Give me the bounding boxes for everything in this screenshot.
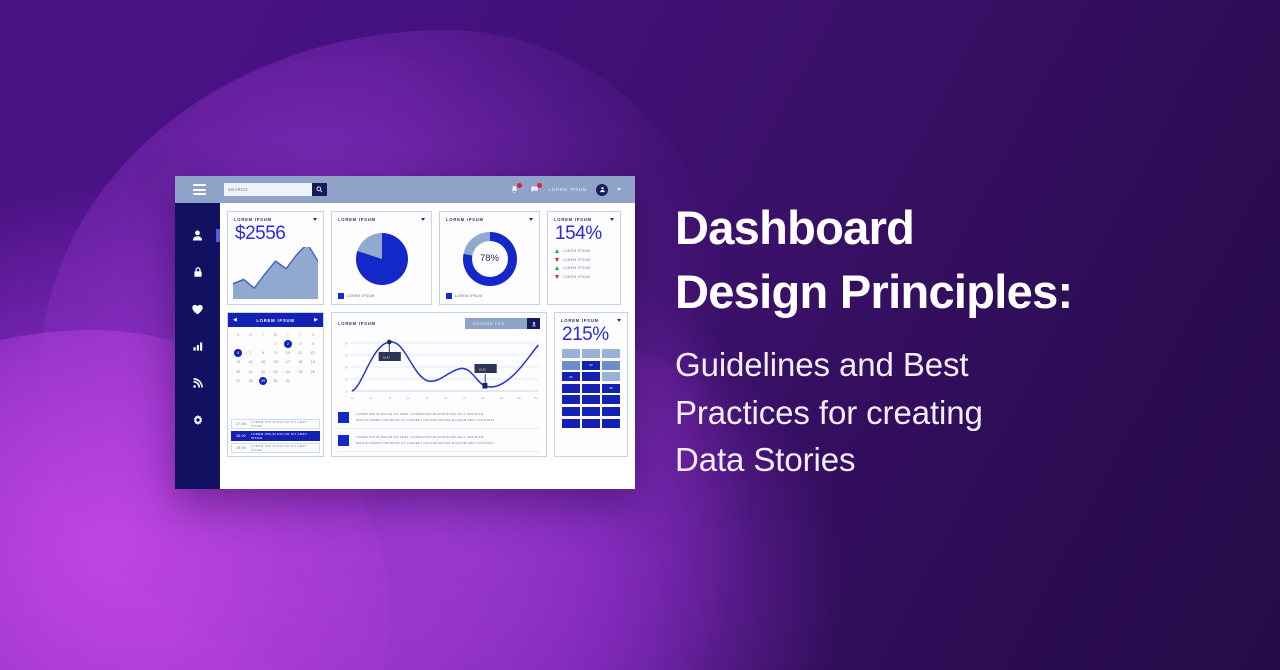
calendar-dow: T: [282, 331, 294, 339]
calendar-day[interactable]: 21: [244, 367, 256, 376]
x-axis-labels: 1020 3040 5060 7080 90100 110: [351, 397, 538, 400]
cards-row-2: ◀ LOREM IPSUM ▶ S M T W T F S: [227, 312, 628, 457]
heatmap-cell[interactable]: [602, 372, 620, 381]
legend-swatch: [338, 412, 349, 423]
pie-slices: [356, 233, 408, 285]
calendar-day[interactable]: 23: [269, 367, 281, 376]
heatmap-cell[interactable]: [602, 407, 620, 416]
calendar-day[interactable]: [244, 339, 256, 348]
user-avatar-icon: [599, 186, 606, 193]
event-text: LOREM IPSUM DOLOR SIT AMET IPSUM: [251, 444, 315, 452]
arrow-down-icon: [555, 258, 559, 262]
page-subtitle: Guidelines and Best Practices for creati…: [675, 341, 1195, 485]
calendar-day[interactable]: 10: [282, 348, 294, 357]
calendar-title: LOREM IPSUM: [237, 318, 314, 323]
legend-swatch: [338, 293, 344, 299]
annotation-trough: 10.22: [475, 364, 497, 389]
card-pie-header: LOREM IPSUM: [332, 212, 431, 222]
donut-chart: 78%: [440, 222, 539, 293]
calendar-day[interactable]: [307, 377, 319, 386]
heatmap-cell[interactable]: [582, 372, 600, 381]
calendar-day[interactable]: 14: [244, 358, 256, 367]
svg-text:100: 100: [517, 397, 521, 400]
card-donut-header: LOREM IPSUM: [440, 212, 539, 222]
kpi-stat-list: LOREM IPSUM LOREM IPSUM LOREM IPSUM: [548, 245, 620, 279]
user-icon: [191, 229, 204, 242]
calendar-day[interactable]: 11: [294, 348, 306, 357]
calendar-day[interactable]: [232, 339, 244, 348]
calendar-week: 20 21 22 23 24 25 26: [232, 367, 319, 376]
heatmap-cell[interactable]: 00: [582, 361, 600, 370]
stat-label: LOREM IPSUM: [563, 275, 590, 279]
card-blocks-value: 215%: [555, 323, 627, 346]
heatmap-cell-label: 00: [589, 363, 592, 367]
svg-text:50: 50: [426, 397, 429, 400]
svg-text:20: 20: [370, 397, 373, 400]
calendar-day[interactable]: 19: [307, 358, 319, 367]
card-calendar: ◀ LOREM IPSUM ▶ S M T W T F S: [227, 312, 324, 457]
heatmap-cell[interactable]: [562, 407, 580, 416]
sidebar: [175, 203, 220, 489]
chat-icon[interactable]: [529, 184, 540, 195]
chevron-right-icon[interactable]: ▶: [314, 318, 318, 323]
bell-badge: [517, 183, 522, 188]
list-item: LOREM IPSUM: [555, 275, 613, 279]
search-group: [224, 183, 327, 196]
svg-text:10: 10: [351, 397, 354, 400]
event-time: 17:00: [236, 422, 246, 426]
svg-text:10.47: 10.47: [383, 355, 390, 359]
svg-text:70: 70: [463, 397, 466, 400]
heatmap-cell[interactable]: [562, 361, 580, 370]
line-series: [352, 342, 538, 391]
lock-icon: [192, 266, 204, 278]
sidebar-active-indicator: [216, 229, 220, 242]
dashboard-window: LOREM IPSUM: [175, 176, 635, 489]
calendar-dow: S: [307, 331, 319, 339]
page-title: Dashboard Design Principles:: [675, 196, 1195, 325]
line-chart-legend: LOREM IPSUM DOLOR SIT AMET, CONSECTETUR …: [332, 405, 546, 452]
calendar-dow: T: [257, 331, 269, 339]
list-item: LOREM IPSUM: [555, 258, 613, 262]
card-kpi-header: LOREM IPSUM: [548, 212, 620, 222]
stat-label: LOREM IPSUM: [563, 249, 590, 253]
card-blocks: LOREM IPSUM 215% 000000: [554, 312, 628, 457]
bar-chart-icon: [192, 340, 204, 352]
calendar-dow-row: S M T W T F S: [232, 331, 319, 339]
event-text: LOREM IPSUM DOLOR SIT AMET IPSUM: [251, 420, 315, 428]
heatmap-cell[interactable]: [562, 384, 580, 393]
calendar-day[interactable]: [257, 339, 269, 348]
calendar-day[interactable]: 18: [294, 358, 306, 367]
area-chart: [228, 245, 323, 304]
heatmap-cell-label: 00: [610, 386, 613, 390]
heart-icon: [191, 303, 204, 316]
cards-row-1: LOREM IPSUM $2556 LOREM IPSUM: [227, 211, 628, 305]
hamburger-icon[interactable]: [193, 184, 206, 195]
heatmap-cell[interactable]: 00: [562, 372, 580, 381]
card-donut: LOREM IPSUM 78% LOREM IPSUM: [439, 211, 540, 305]
svg-text:10: 10: [345, 390, 348, 393]
card-kpi-value: 154%: [548, 222, 620, 245]
caret-down-icon[interactable]: [617, 188, 621, 191]
calendar-grid: S M T W T F S 1 2: [228, 327, 323, 388]
calendar-day[interactable]: 27: [232, 377, 244, 386]
bell-icon[interactable]: [509, 184, 520, 195]
line-chart: 50 40 30 20 10 1020 3040 5060 7080: [332, 329, 546, 405]
calendar-day[interactable]: 17: [282, 358, 294, 367]
svg-text:10.22: 10.22: [479, 367, 486, 371]
calendar-day[interactable]: 22: [257, 367, 269, 376]
choose-file-label: CHOOSE FILE: [465, 318, 527, 329]
caret-down-icon[interactable]: [610, 218, 614, 221]
event-time: 19:00: [236, 446, 246, 450]
card-revenue: LOREM IPSUM $2556: [227, 211, 324, 305]
heatmap-cell[interactable]: [602, 349, 620, 358]
sidebar-item-favorites[interactable]: [190, 301, 206, 317]
heatmap-cell[interactable]: [582, 395, 600, 404]
event-time: 18:00: [236, 434, 246, 438]
subhead-line-2: Practices for creating: [675, 389, 1195, 437]
svg-text:40: 40: [407, 397, 410, 400]
card-line-chart-header: LOREM IPSUM CHOOSE FILE: [332, 313, 546, 329]
heatmap-cell[interactable]: [562, 395, 580, 404]
svg-text:90: 90: [500, 397, 503, 400]
svg-text:50: 50: [345, 342, 348, 345]
promo-copy: Dashboard Design Principles: Guidelines …: [675, 196, 1195, 484]
legend-label: LOREM IPSUM: [455, 294, 482, 298]
calendar-week: 27 28 29 30 31: [232, 377, 319, 386]
calendar-day[interactable]: 13: [232, 358, 244, 367]
headline-line-2: Design Principles:: [675, 260, 1195, 324]
subhead-line-3: Data Stories: [675, 436, 1195, 484]
list-item: LOREM IPSUM DOLOR SIT AMET, CONSECTETUR …: [338, 409, 540, 429]
heatmap-cell-label: 00: [569, 375, 572, 379]
svg-text:110: 110: [534, 397, 538, 400]
y-axis-labels: 50 40 30 20 10: [345, 342, 348, 393]
calendar-day-selected[interactable]: 2: [282, 339, 294, 348]
chat-badge: [537, 183, 542, 188]
calendar-day[interactable]: 15: [257, 358, 269, 367]
card-kpi: LOREM IPSUM 154% LOREM IPSUM LOREM IPSUM: [547, 211, 621, 305]
calendar-dow: W: [269, 331, 281, 339]
card-line-chart-title: LOREM IPSUM: [338, 321, 376, 326]
list-item: LOREM IPSUM: [555, 266, 613, 270]
calendar-dow: F: [294, 331, 306, 339]
search-input[interactable]: [224, 183, 312, 196]
calendar-day[interactable]: 31: [282, 377, 294, 386]
heatmap-cell[interactable]: [562, 349, 580, 358]
sidebar-item-security[interactable]: [190, 264, 206, 280]
heatmap-cell[interactable]: [582, 407, 600, 416]
calendar-day[interactable]: 24: [282, 367, 294, 376]
calendar-day[interactable]: 9: [269, 348, 281, 357]
caret-down-icon[interactable]: [421, 218, 425, 221]
legend-text: LOREM IPSUM DOLOR SIT AMET, CONSECTETUR …: [356, 412, 495, 423]
gear-icon: [192, 414, 204, 426]
calendar-day[interactable]: 3: [294, 339, 306, 348]
block-heatmap: 000000: [555, 346, 627, 434]
dashboard-content: LOREM IPSUM $2556 LOREM IPSUM: [220, 203, 635, 489]
calendar-day-selected[interactable]: 29: [257, 377, 269, 386]
search-icon: [316, 186, 323, 193]
calendar-day[interactable]: 12: [307, 348, 319, 357]
calendar-day[interactable]: 25: [294, 367, 306, 376]
calendar-dow: S: [232, 331, 244, 339]
calendar-day[interactable]: [294, 377, 306, 386]
heatmap-cell[interactable]: [602, 395, 620, 404]
list-item[interactable]: 19:00 LOREM IPSUM DOLOR SIT AMET IPSUM: [231, 443, 320, 453]
top-bar: LOREM IPSUM: [175, 176, 635, 203]
calendar-day[interactable]: 7: [244, 348, 256, 357]
calendar-day[interactable]: 30: [269, 377, 281, 386]
upload-icon: [527, 318, 540, 329]
choose-file-button[interactable]: CHOOSE FILE: [465, 318, 540, 329]
list-item[interactable]: 18:00 LOREM IPSUM DOLOR SIT AMET IPSUM: [231, 431, 320, 441]
event-text: LOREM IPSUM DOLOR SIT AMET IPSUM: [251, 432, 315, 440]
donut-ring: 78%: [463, 232, 517, 286]
top-bar-actions: LOREM IPSUM: [509, 184, 627, 196]
calendar-day[interactable]: 16: [269, 358, 281, 367]
subhead-line-1: Guidelines and Best: [675, 341, 1195, 389]
legend-swatch: [338, 435, 349, 446]
calendar-header: ◀ LOREM IPSUM ▶: [228, 313, 323, 327]
card-donut-legend: LOREM IPSUM: [440, 293, 539, 304]
arrow-up-icon: [555, 266, 559, 270]
arrow-up-icon: [555, 249, 559, 253]
card-line-chart: LOREM IPSUM CHOOSE FILE: [331, 312, 547, 457]
svg-text:30: 30: [345, 366, 348, 369]
calendar-day[interactable]: 26: [307, 367, 319, 376]
calendar-day[interactable]: 4: [307, 339, 319, 348]
heatmap-cell[interactable]: [602, 419, 620, 428]
rss-icon: [192, 377, 204, 389]
stat-label: LOREM IPSUM: [563, 258, 590, 262]
caret-down-icon[interactable]: [529, 218, 533, 221]
card-revenue-value: $2556: [228, 222, 323, 245]
calendar-event-list: 17:00 LOREM IPSUM DOLOR SIT AMET IPSUM 1…: [228, 419, 323, 456]
card-pie-legend: LOREM IPSUM: [332, 293, 431, 304]
search-button[interactable]: [312, 183, 327, 196]
sidebar-item-profile[interactable]: [190, 227, 206, 243]
legend-text: LOREM IPSUM DOLOR SIT AMET, CONSECTETUR …: [356, 435, 495, 446]
list-item[interactable]: 17:00 LOREM IPSUM DOLOR SIT AMET IPSUM: [231, 419, 320, 429]
heatmap-cell[interactable]: [582, 384, 600, 393]
sidebar-item-analytics[interactable]: [190, 338, 206, 354]
heatmap-cell[interactable]: [582, 349, 600, 358]
headline-line-1: Dashboard: [675, 196, 1195, 260]
heatmap-cell[interactable]: [582, 419, 600, 428]
pie-chart: [332, 222, 431, 293]
svg-text:60: 60: [444, 397, 447, 400]
list-item: LOREM IPSUM: [555, 249, 613, 253]
donut-center-value: 78%: [472, 241, 508, 277]
sidebar-item-feed[interactable]: [190, 375, 206, 391]
svg-text:30: 30: [388, 397, 391, 400]
user-label: LOREM IPSUM: [549, 187, 587, 192]
card-revenue-header: LOREM IPSUM: [228, 212, 323, 222]
list-item: LOREM IPSUM DOLOR SIT AMET, CONSECTETUR …: [338, 432, 540, 452]
calendar-week: 1 2 3 4: [232, 339, 319, 348]
calendar-day[interactable]: 28: [244, 377, 256, 386]
caret-down-icon[interactable]: [313, 218, 317, 221]
avatar[interactable]: [596, 184, 608, 196]
heatmap-cell[interactable]: [562, 419, 580, 428]
heatmap-cell[interactable]: 00: [602, 384, 620, 393]
sidebar-item-settings[interactable]: [190, 412, 206, 428]
heatmap-cell[interactable]: [602, 361, 620, 370]
legend-label: LOREM IPSUM: [347, 294, 374, 298]
svg-text:80: 80: [482, 397, 485, 400]
calendar-week: 13 14 15 16 17 18 19: [232, 358, 319, 367]
stat-label: LOREM IPSUM: [563, 266, 590, 270]
legend-swatch: [446, 293, 452, 299]
caret-down-icon[interactable]: [617, 319, 621, 322]
calendar-day[interactable]: 1: [269, 339, 281, 348]
card-blocks-header: LOREM IPSUM: [555, 313, 627, 323]
calendar-week: 6 7 8 9 10 11 12: [232, 348, 319, 357]
calendar-day[interactable]: 8: [257, 348, 269, 357]
card-pie: LOREM IPSUM LOREM IPSUM: [331, 211, 432, 305]
calendar-dow: M: [244, 331, 256, 339]
calendar-day[interactable]: 20: [232, 367, 244, 376]
arrow-down-icon: [555, 275, 559, 279]
svg-text:40: 40: [345, 354, 348, 357]
svg-text:20: 20: [345, 378, 348, 381]
calendar-day-selected[interactable]: 6: [232, 348, 244, 357]
